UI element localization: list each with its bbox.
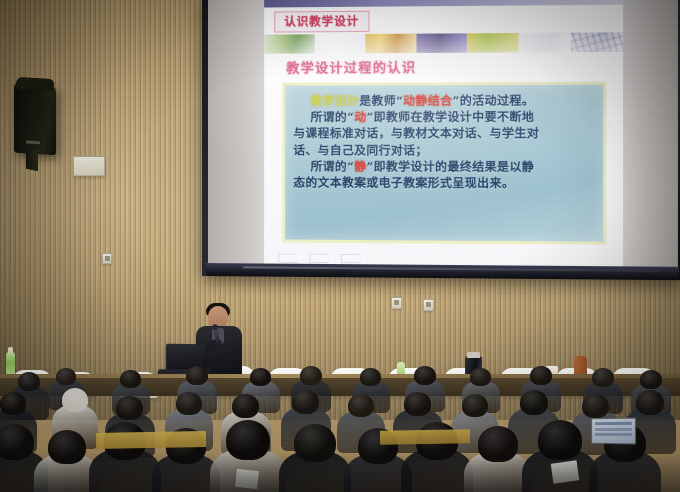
audience-member-head bbox=[186, 366, 208, 385]
audience-member-head bbox=[250, 368, 271, 386]
audience-member-head bbox=[348, 394, 374, 417]
audience-member-head bbox=[640, 370, 662, 389]
audience-member-head bbox=[56, 368, 76, 385]
audience-paper bbox=[235, 469, 259, 489]
audience-member-head bbox=[62, 388, 88, 412]
audience-member-head bbox=[470, 368, 491, 386]
audience-member-head bbox=[292, 390, 319, 414]
audience-laptop bbox=[591, 418, 636, 445]
audience-member-head bbox=[226, 420, 270, 460]
audience-member-head bbox=[538, 420, 582, 460]
desk-surface bbox=[96, 431, 206, 449]
audience-member-head bbox=[360, 368, 381, 386]
audience-member-head bbox=[404, 392, 431, 416]
audience-member-head bbox=[294, 424, 336, 462]
audience-member-head bbox=[48, 430, 86, 464]
audience-member-head bbox=[116, 396, 143, 420]
desk-surface bbox=[380, 429, 470, 445]
audience-paper bbox=[551, 460, 580, 483]
audience-member-head bbox=[176, 392, 202, 415]
audience-member-head bbox=[592, 368, 614, 387]
audience-member-head bbox=[520, 390, 548, 415]
audience-member-head bbox=[0, 392, 26, 415]
audience-member-head bbox=[478, 426, 518, 462]
photo-scene: 认识教学设计 教学设计过程的认识 教学设计是教师“动静结合”的活动过程。所谓的“… bbox=[0, 0, 680, 492]
audience-member-head bbox=[636, 390, 664, 415]
audience-member-head bbox=[530, 366, 552, 385]
audience-member-head bbox=[232, 394, 259, 418]
audience-member-head bbox=[462, 394, 488, 417]
audience-member-head bbox=[582, 394, 609, 418]
audience-member-head bbox=[18, 372, 40, 391]
audience-member-head bbox=[120, 370, 141, 388]
audience-member-head bbox=[300, 366, 322, 385]
audience-member-head bbox=[0, 424, 34, 460]
audience-member-head bbox=[414, 366, 436, 385]
